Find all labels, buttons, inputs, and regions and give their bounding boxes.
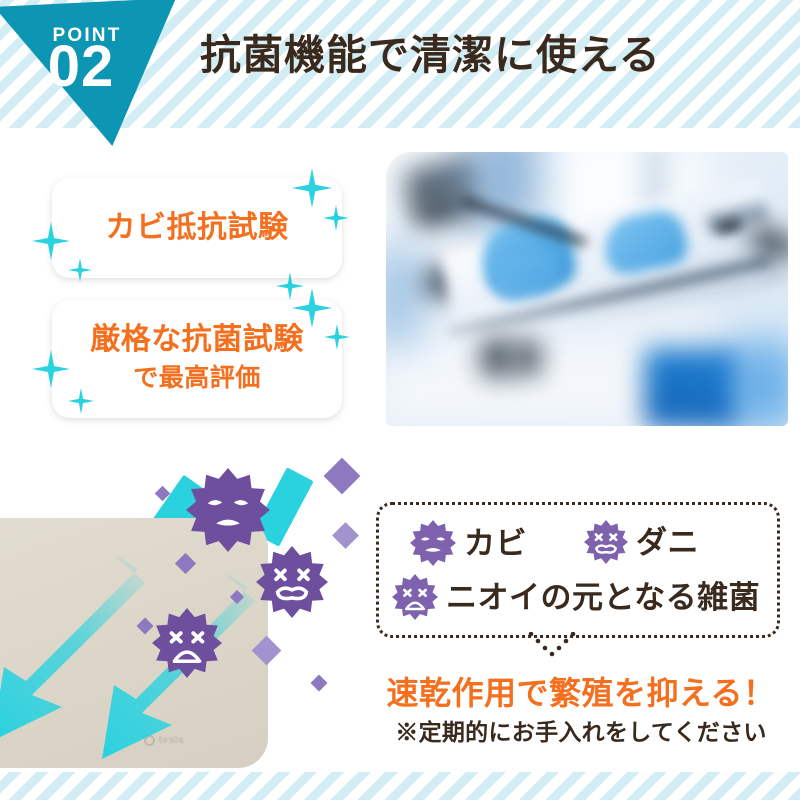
feature-card-1-label: カビ抵抗試験 xyxy=(106,210,289,247)
callout-item-mold: カビ xyxy=(410,520,527,566)
germ-callout: カビ ダニ xyxy=(376,502,780,638)
feature-card-2-line2: で最高評価 xyxy=(133,364,261,392)
decorative-diamond xyxy=(311,675,328,692)
point-number: 02 xyxy=(16,38,146,96)
feature-card-2-line1: 厳格な抗菌試験 xyxy=(90,323,304,356)
page-title: 抗菌機能で清潔に使える xyxy=(200,34,760,77)
bottom-stripe-band xyxy=(0,772,800,800)
photo-blue-accent xyxy=(386,248,414,344)
feature-card-2-label: 厳格な抗菌試験 で最高評価 xyxy=(90,322,304,395)
germ-icon-mites xyxy=(584,520,628,564)
germ-icon-odor xyxy=(392,574,438,620)
quick-dry-arrows xyxy=(0,555,300,770)
decorative-diamond xyxy=(324,458,361,495)
germ-face-sad xyxy=(410,520,456,566)
germ-face-dead-frown xyxy=(392,574,438,620)
feature-card-antibacterial-rating: 厳格な抗菌試験 で最高評価 xyxy=(52,300,342,418)
feature-card-mold-test: カビ抵抗試験 xyxy=(52,178,342,278)
point-badge: POINT 02 xyxy=(0,0,176,146)
germ-face-dead-open xyxy=(584,520,628,564)
callout-item-mites: ダニ xyxy=(584,520,699,564)
bottom-note: ※定期的にお手入れをしてください xyxy=(376,713,786,747)
callout-label-mold: カビ xyxy=(464,528,527,559)
callout-label-mites: ダニ xyxy=(636,527,699,558)
photo-beaker-liquid xyxy=(732,338,788,426)
callout-pointer-tail xyxy=(528,632,576,662)
decorative-diamond xyxy=(332,522,359,549)
germ-icon-mold xyxy=(410,520,456,566)
laboratory-photo xyxy=(386,152,788,426)
photo-foreground-block xyxy=(514,342,540,374)
callout-item-odor-bacteria: ニオイの元となる雑菌 xyxy=(392,574,760,620)
photo-foreground-block xyxy=(482,340,512,376)
bottom-headline: 速乾作用で繁殖を抑える！ xyxy=(376,668,786,714)
photo-beaker-liquid xyxy=(644,348,740,426)
infographic-stage: POINT 02 抗菌機能で清潔に使える カビ抵抗試験 厳格な抗菌試験 で最高評… xyxy=(0,0,800,800)
callout-label-odor: ニオイの元となる雑菌 xyxy=(446,582,760,613)
